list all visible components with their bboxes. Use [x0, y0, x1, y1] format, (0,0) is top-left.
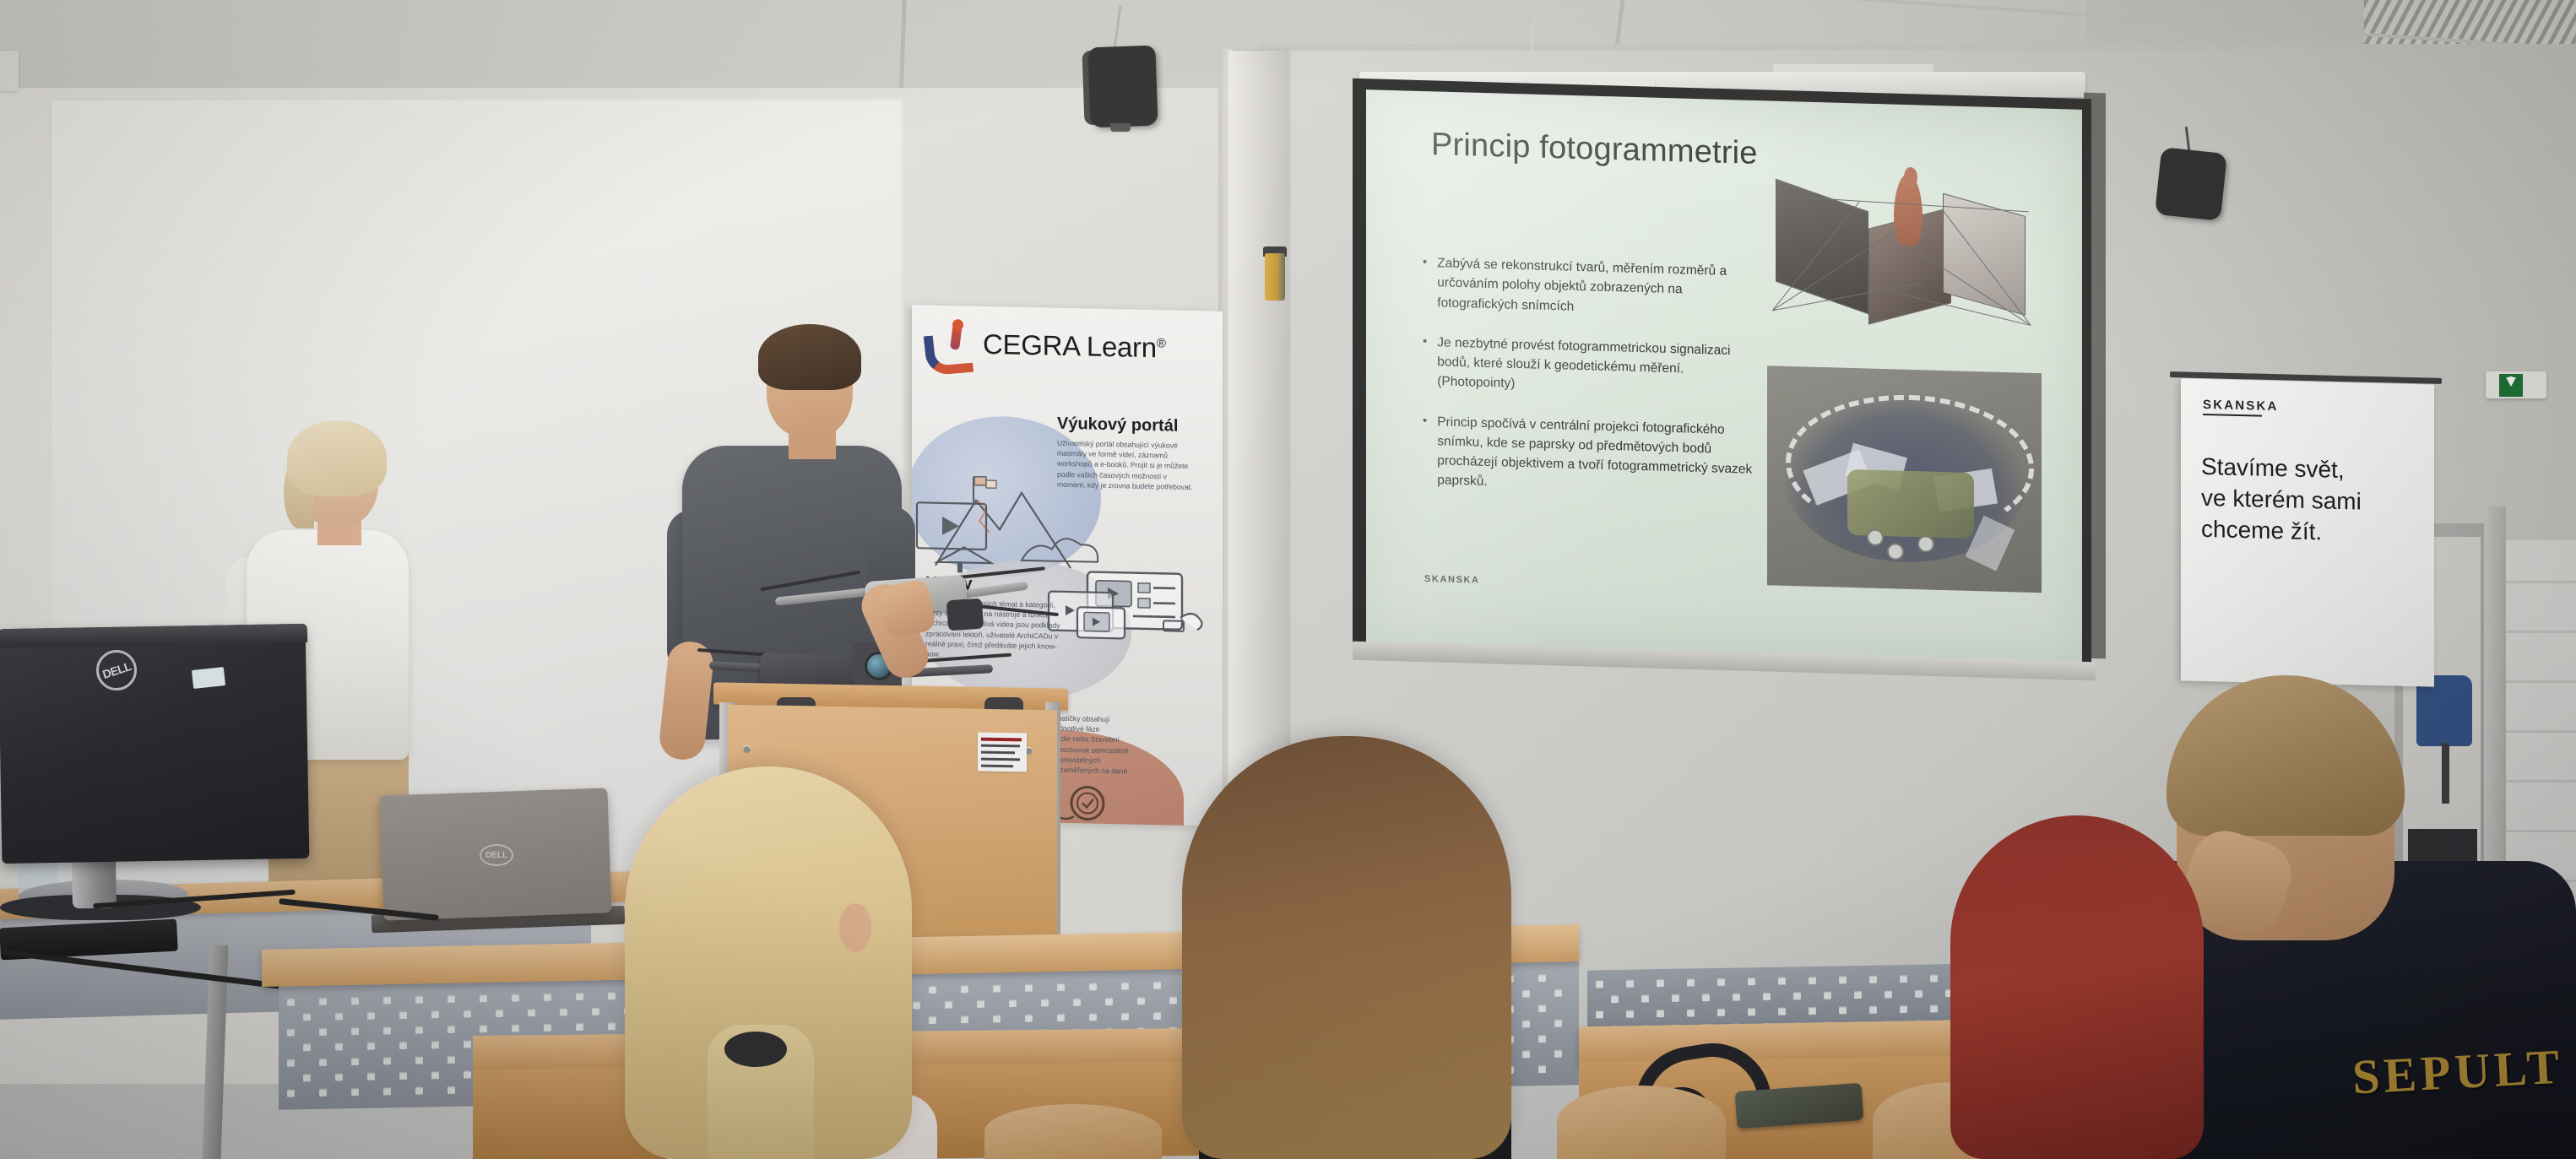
monitor-asset-sticker: [192, 667, 225, 689]
panel-perforation: [1687, 978, 1695, 986]
panel-perforation: [1869, 1006, 1877, 1014]
panel-perforation: [319, 998, 327, 1005]
panel-perforation: [447, 995, 455, 1003]
panel-perforation: [1626, 1010, 1634, 1018]
skanska-slogan: Stavíme svět, ve kterém sami chceme žít.: [2201, 452, 2362, 549]
panel-perforation: [303, 1013, 311, 1021]
panel-perforation: [544, 1024, 551, 1032]
panel-perforation: [1930, 974, 1938, 982]
panel-perforation: [1041, 999, 1049, 1006]
wall-speaker-left: [1087, 46, 1158, 128]
panel-perforation: [351, 1058, 359, 1065]
panel-perforation: [929, 986, 936, 994]
panel-perforation: [1057, 1014, 1065, 1021]
panel-perforation: [287, 1089, 295, 1097]
panel-perforation: [1672, 994, 1679, 1002]
registered-mark-icon: ®: [1157, 336, 1166, 350]
panel-perforation: [447, 1086, 455, 1094]
presenter-woman-hair: [287, 420, 387, 496]
panel-perforation: [383, 1057, 391, 1064]
speaker-mount: [1110, 123, 1131, 132]
panel-perforation: [415, 1057, 423, 1064]
panel-perforation: [464, 1040, 471, 1048]
panel-perforation: [1611, 995, 1619, 1003]
panel-perforation: [1538, 1065, 1546, 1073]
panel-perforation: [399, 1042, 407, 1049]
panel-perforation: [512, 994, 519, 1001]
light-switch[interactable]: [0, 51, 19, 91]
panel-perforation: [415, 996, 423, 1004]
panel-perforation: [383, 996, 391, 1004]
slogan-line-2: ve kterém sami: [2201, 483, 2362, 518]
panel-perforation: [1522, 1020, 1530, 1027]
panel-perforation: [351, 1088, 359, 1096]
panel-perforation: [993, 984, 1001, 992]
panel-perforation: [576, 1023, 583, 1031]
cegra-logo-text: CEGRA Learn®: [983, 328, 1166, 365]
panel-perforation: [1839, 1006, 1847, 1014]
student-2-hair: [1182, 736, 1511, 1159]
panel-perforation: [464, 1070, 471, 1078]
slogan-line-3: chceme žít.: [2201, 514, 2362, 550]
slogan-line-1: Stavíme svět,: [2201, 452, 2362, 487]
panel-perforation: [544, 994, 551, 1001]
panel-perforation: [335, 1043, 343, 1050]
classroom-presentation-photo: Princip fotogrammetrie • Zabývá se rekon…: [0, 0, 2576, 1159]
panel-perforation: [1025, 984, 1033, 992]
panel-perforation: [977, 1000, 984, 1008]
panel-perforation: [1089, 983, 1097, 990]
panel-perforation: [447, 1056, 455, 1064]
panel-perforation: [319, 1028, 327, 1036]
panel-perforation: [1778, 977, 1786, 984]
panel-perforation: [1839, 976, 1847, 983]
cegra-wordmark: CEGRA Learn: [983, 328, 1157, 363]
panel-perforation: [1657, 1010, 1664, 1017]
panel-perforation: [1900, 1005, 1907, 1013]
wall-speaker-right: [2155, 147, 2227, 221]
panel-perforation: [383, 1087, 391, 1095]
panel-perforation: [929, 1016, 936, 1024]
panel-perforation: [512, 1024, 519, 1032]
panel-perforation: [1538, 974, 1546, 982]
panel-perforation: [480, 1025, 487, 1032]
panel-perforation: [1641, 994, 1649, 1002]
panel-perforation: [1522, 989, 1530, 997]
chair-back: [984, 1104, 1162, 1159]
student-3-hair: [1950, 815, 2204, 1159]
panel-perforation: [464, 1010, 471, 1017]
panel-perforation: [1717, 978, 1725, 986]
dell-logo-icon: DELL: [480, 844, 513, 866]
panel-perforation: [592, 1007, 599, 1015]
panel-perforation: [1687, 1009, 1695, 1016]
panel-perforation: [993, 1015, 1001, 1022]
panel-perforation: [335, 1073, 343, 1080]
podium-screw: [743, 745, 751, 753]
chair-stem: [2442, 743, 2449, 804]
hair-tie: [724, 1032, 787, 1067]
panel-perforation: [1009, 999, 1017, 1007]
panel-perforation: [1702, 994, 1710, 1001]
panel-perforation: [303, 1074, 311, 1081]
panel-perforation: [1763, 993, 1771, 1000]
panel-perforation: [1057, 983, 1065, 991]
panel-perforation: [431, 1041, 439, 1048]
panel-perforation: [1137, 997, 1145, 1005]
panel-perforation: [1073, 999, 1081, 1006]
panel-perforation: [480, 994, 487, 1002]
panel-perforation: [1554, 1020, 1562, 1027]
cegra-logo-icon: [924, 320, 973, 368]
panel-perforation: [1748, 978, 1755, 985]
student-1-ear: [839, 903, 871, 952]
panel-perforation: [383, 1026, 391, 1034]
panel-perforation: [608, 1022, 616, 1030]
panel-perforation: [1717, 1009, 1725, 1016]
panel-perforation: [1153, 982, 1161, 989]
panel-perforation: [351, 1027, 359, 1035]
panel-perforation: [1538, 1035, 1546, 1043]
panel-perforation: [1522, 1050, 1530, 1058]
panel-perforation: [1626, 980, 1634, 988]
panel-perforation: [961, 985, 968, 993]
dell-monitor: [0, 624, 309, 864]
panel-perforation: [560, 1008, 567, 1015]
banner-section-portal: Výukový portál Uživatelský portál obsahu…: [1057, 414, 1196, 492]
panel-perforation: [1854, 991, 1862, 999]
skanska-logo: SKANSKA: [2203, 398, 2279, 414]
panel-perforation: [945, 1000, 952, 1008]
panel-perforation: [961, 1015, 968, 1023]
panel-perforation: [415, 1026, 423, 1034]
dell-logo-text: DELL: [100, 659, 133, 681]
panel-perforation: [496, 1010, 503, 1017]
podium-asset-label: [978, 732, 1027, 772]
panel-perforation: [576, 993, 583, 1000]
panel-perforation: [1121, 1012, 1129, 1020]
panel-perforation: [1900, 975, 1907, 983]
skanska-logo-underline: [2203, 414, 2262, 417]
panel-perforation: [431, 1071, 439, 1079]
panel-perforation: [1169, 996, 1177, 1004]
panel-perforation: [1025, 1015, 1033, 1022]
dell-logo-icon: DELL: [96, 650, 137, 691]
panel-perforation: [287, 998, 295, 1005]
panel-perforation: [319, 1059, 327, 1066]
panel-perforation: [1930, 1005, 1938, 1012]
panel-perforation: [1885, 990, 1892, 998]
panel-perforation: [1793, 992, 1801, 999]
exit-arrow-head-icon: [2506, 377, 2516, 387]
panel-perforation: [1733, 993, 1740, 1000]
panel-perforation: [367, 1073, 375, 1080]
panel-perforation: [399, 1011, 407, 1019]
panel-perforation: [1596, 980, 1603, 988]
panel-perforation: [367, 1043, 375, 1050]
laptop-logo-text: DELL: [485, 851, 507, 860]
panel-perforation: [431, 1010, 439, 1018]
skanska-banner: SKANSKA Stavíme svět, ve kterém sami chc…: [2181, 378, 2434, 686]
panel-perforation: [1778, 1007, 1786, 1015]
panel-perforation: [913, 1001, 920, 1009]
panel-perforation: [319, 1089, 327, 1097]
panel-perforation: [1809, 1007, 1816, 1015]
video-monitor-icon: [914, 497, 1023, 576]
panel-perforation: [1809, 977, 1816, 984]
panel-perforation: [1153, 1012, 1161, 1020]
panel-perforation: [367, 1012, 375, 1020]
panel-perforation: [303, 1043, 311, 1051]
panel-perforation: [1089, 1013, 1097, 1021]
panel-perforation: [1915, 990, 1923, 998]
section-body: Uživatelský portál obsahující výukové ma…: [1057, 438, 1196, 492]
section-heading: Výukový portál: [1057, 414, 1196, 436]
panel-perforation: [1824, 992, 1831, 999]
panel-perforation: [351, 997, 359, 1005]
panel-perforation: [1105, 998, 1113, 1005]
chair-back: [1557, 1086, 1726, 1159]
hoodie-text: SEPULT: [2351, 1037, 2564, 1105]
panel-perforation: [1596, 1010, 1603, 1018]
panel-perforation: [608, 992, 616, 999]
panel-perforation: [1869, 976, 1877, 983]
panel-perforation: [1748, 1008, 1755, 1015]
panel-perforation: [1538, 1005, 1546, 1012]
panel-perforation: [1554, 989, 1562, 997]
drone-gimbal-camera: [946, 598, 984, 631]
panel-perforation: [335, 1012, 343, 1020]
panel-perforation: [1657, 979, 1664, 987]
panel-perforation: [287, 1059, 295, 1066]
panel-perforation: [447, 1026, 455, 1033]
screen-glare: [1366, 89, 2082, 663]
panel-perforation: [1121, 982, 1129, 989]
presenter-man-hair: [758, 324, 861, 390]
panel-perforation: [415, 1087, 423, 1095]
panel-perforation: [1554, 1050, 1562, 1058]
panel-perforation: [399, 1072, 407, 1080]
whiteboard-marker[interactable]: [1265, 253, 1285, 301]
panel-perforation: [287, 1028, 295, 1036]
panel-perforation: [528, 1009, 535, 1016]
